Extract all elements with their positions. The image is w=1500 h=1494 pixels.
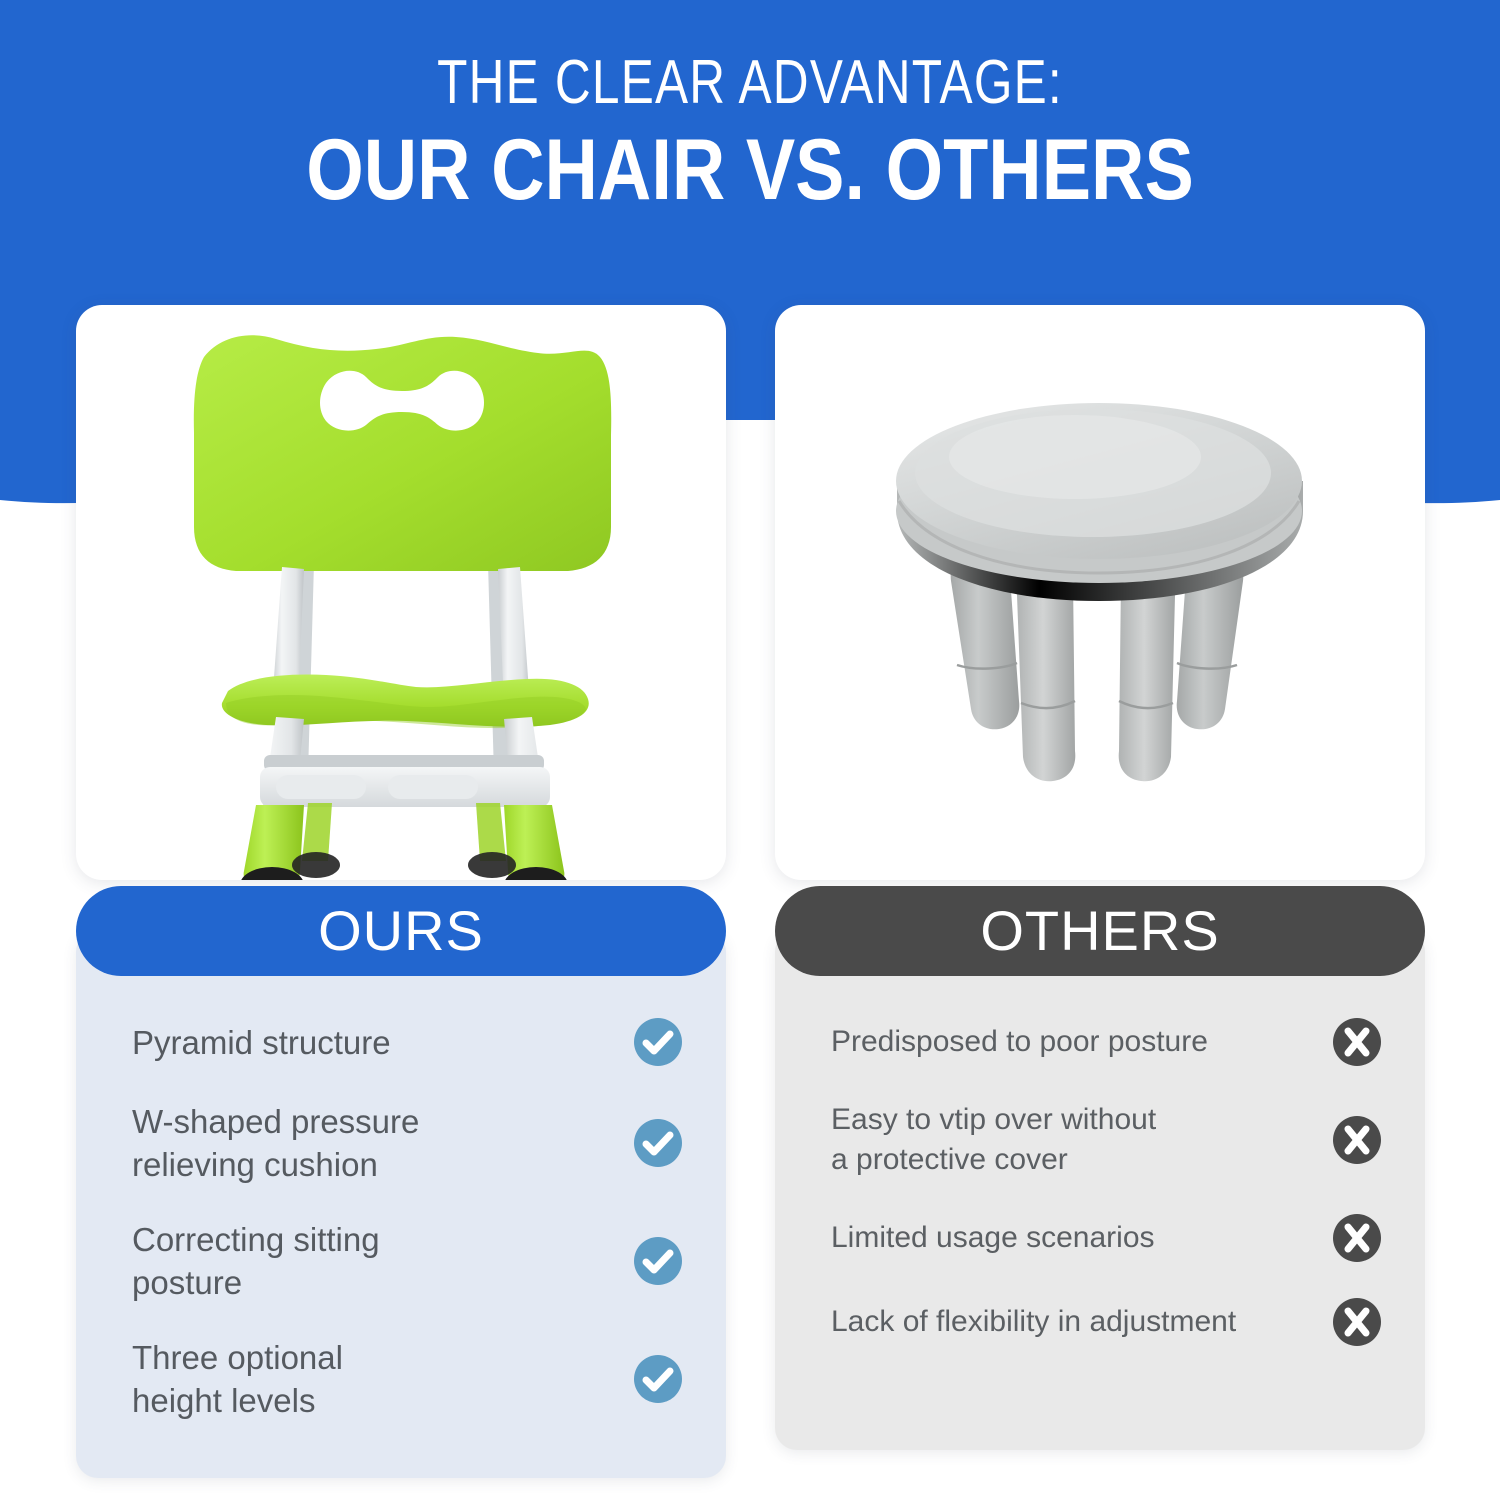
feature-row: Predisposed to poor posture [809,1000,1391,1084]
product-photo-card-ours [76,305,726,880]
feature-panel-ours: Pyramid structure W-shaped pressure reli… [76,930,726,1478]
feature-label: Pyramid structure [132,1021,391,1064]
feature-row: Limited usage scenarios [809,1196,1391,1280]
page-title: THE CLEAR ADVANTAGE: OUR CHAIR VS. OTHER… [0,48,1500,216]
banner-ours-label: OURS [318,903,484,959]
feature-row: Easy to vtip over without a protective c… [809,1084,1391,1196]
check-circle-icon [632,1353,684,1405]
x-circle-icon [1331,1114,1383,1166]
feature-row: Three optional height levels [110,1320,692,1438]
feature-list-others: Predisposed to poor posture Easy to vtip… [809,1000,1391,1364]
feature-label: Predisposed to poor posture [831,1022,1208,1062]
column-ours: OURS Pyramid structure W-shaped pressure… [76,305,726,1478]
feature-list-ours: Pyramid structure W-shaped pressure reli… [110,1000,692,1438]
feature-row: Lack of flexibility in adjustment [809,1280,1391,1364]
banner-ours: OURS [76,886,726,976]
title-eyebrow: THE CLEAR ADVANTAGE: [150,48,1350,118]
feature-label: W-shaped pressure relieving cushion [132,1100,419,1186]
title-headline: OUR CHAIR VS. OTHERS [105,124,1395,216]
check-circle-icon [632,1235,684,1287]
feature-row: Pyramid structure [110,1000,692,1084]
feature-label: Limited usage scenarios [831,1218,1155,1258]
gray-stool-illustration [775,305,1425,880]
feature-label: Three optional height levels [132,1336,343,1422]
feature-row: Correcting sitting posture [110,1202,692,1320]
stool-photo [775,305,1425,880]
comparison-infographic: THE CLEAR ADVANTAGE: OUR CHAIR VS. OTHER… [0,0,1500,1494]
x-circle-icon [1331,1016,1383,1068]
x-circle-icon [1331,1212,1383,1264]
banner-others: OTHERS [775,886,1425,976]
chair-photo [76,305,726,880]
column-others: OTHERS Predisposed to poor posture Easy … [775,305,1425,1450]
feature-row: W-shaped pressure relieving cushion [110,1084,692,1202]
feature-panel-others: Predisposed to poor posture Easy to vtip… [775,930,1425,1450]
feature-label: Lack of flexibility in adjustment [831,1302,1236,1342]
check-circle-icon [632,1117,684,1169]
check-circle-icon [632,1016,684,1068]
comparison-columns: OURS Pyramid structure W-shaped pressure… [0,0,1500,1494]
x-circle-icon [1331,1296,1383,1348]
feature-label: Correcting sitting posture [132,1218,380,1304]
green-chair-illustration [76,305,726,880]
feature-label: Easy to vtip over without a protective c… [831,1100,1156,1180]
product-photo-card-others [775,305,1425,880]
banner-others-label: OTHERS [980,903,1219,959]
